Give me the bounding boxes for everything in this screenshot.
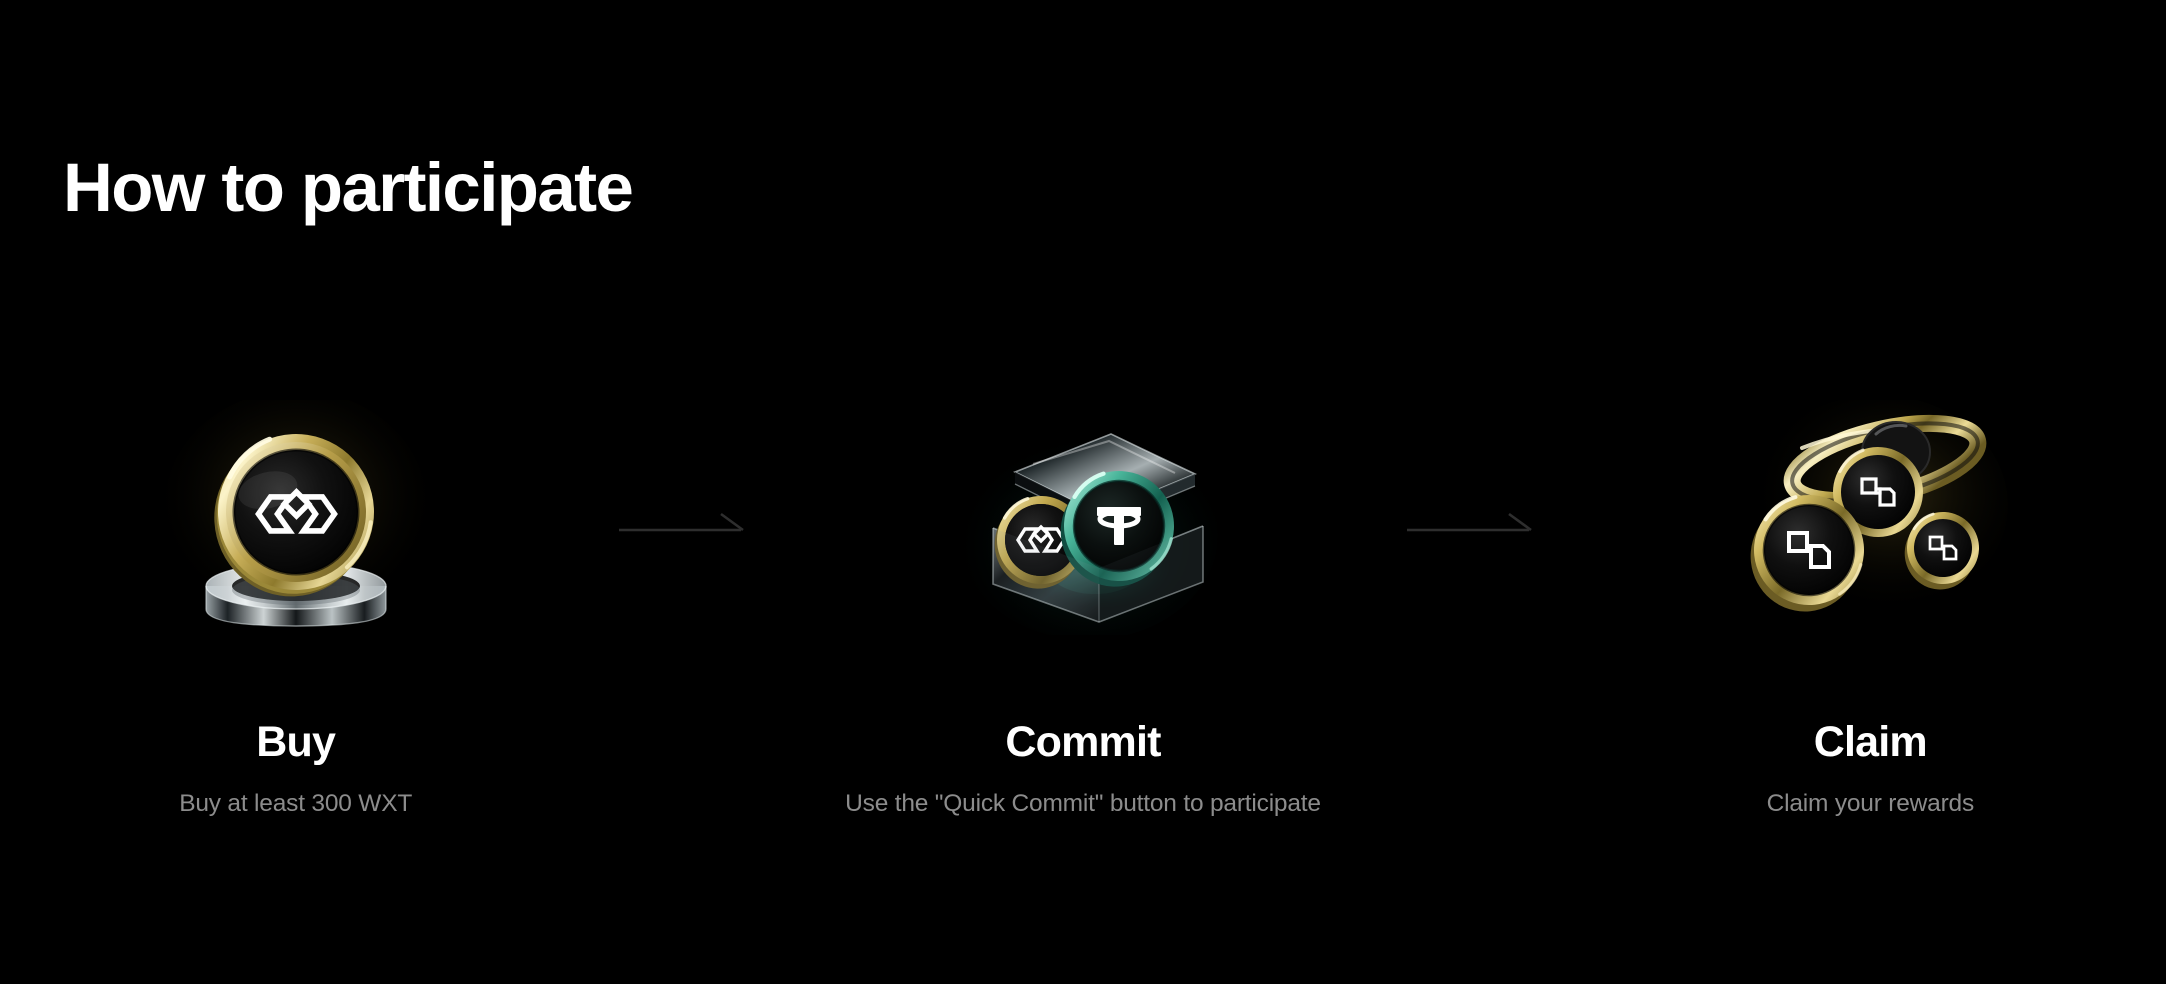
step-commit: Commit Use the "Quick Commit" button to … — [787, 400, 1378, 817]
page-title: How to participate — [63, 150, 632, 226]
steps-row: Buy Buy at least 300 WXT — [0, 400, 2166, 900]
glass-chest-with-coins-illustration — [923, 400, 1243, 635]
arrow-commit-to-claim — [1379, 400, 1575, 635]
step-buy: Buy Buy at least 300 WXT — [0, 400, 591, 817]
arrow-buy-to-commit — [591, 400, 787, 635]
step-title: Commit — [1005, 721, 1160, 764]
step-title: Claim — [1814, 721, 1927, 764]
floating-reward-coins-illustration — [1710, 400, 2030, 635]
arrow-right-icon — [617, 510, 747, 544]
step-description: Buy at least 300 WXT — [179, 792, 412, 817]
step-description: Use the "Quick Commit" button to partici… — [845, 792, 1321, 817]
step-claim: Claim Claim your rewards — [1575, 400, 2166, 817]
step-description: Claim your rewards — [1767, 792, 1974, 817]
step-title: Buy — [256, 721, 335, 764]
arrow-right-icon — [1405, 510, 1535, 544]
gold-coin-on-pedestal-illustration — [136, 400, 456, 635]
how-to-participate-section: How to participate — [0, 0, 2166, 984]
